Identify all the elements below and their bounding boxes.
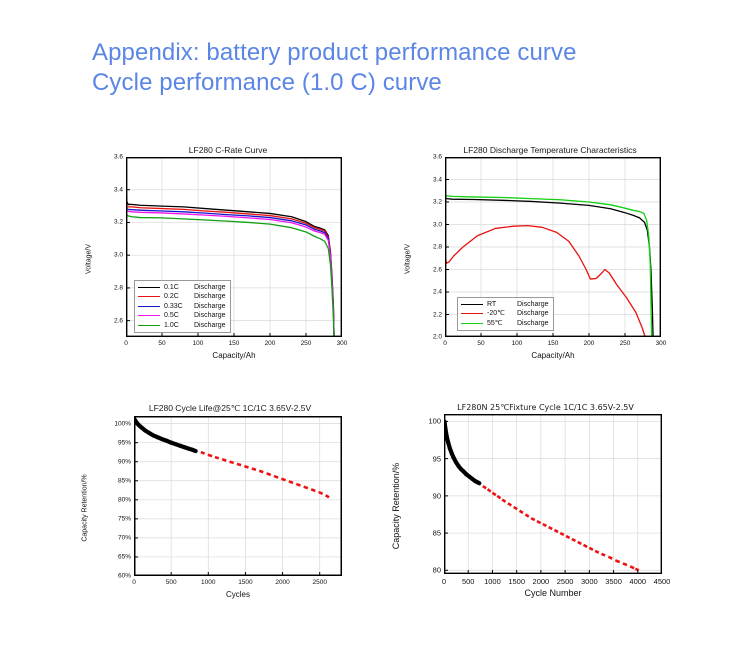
y-tick-label: 2.8 (433, 244, 445, 251)
page-title-line-2: Cycle performance (1.0 C) curve (92, 68, 577, 98)
legend-item: 0.1CDischarge (138, 283, 226, 293)
legend-color-swatch (138, 325, 160, 326)
y-axis-label: Voltage/V (86, 244, 93, 274)
y-tick-label: 2.4 (433, 289, 445, 296)
series-measured (193, 450, 196, 451)
legend-color-swatch (138, 287, 160, 288)
axes: 0501001502002503002.62.83.03.23.43.60.1C… (126, 157, 342, 337)
y-tick-label: 3.6 (114, 154, 126, 161)
series-measured (478, 482, 479, 483)
x-axis-label: Cycle Number (444, 588, 662, 598)
y-tick-label: 95 (433, 454, 444, 463)
chart-c-rate-curve: LF280 C-Rate Curve Voltage/V 05010015020… (108, 145, 348, 360)
x-tick-label: 250 (620, 337, 631, 347)
x-tick-label: 1500 (508, 574, 525, 586)
legend-item: -20℃Discharge (461, 309, 549, 319)
y-tick-label: 100% (114, 420, 134, 427)
x-tick-label: 3500 (605, 574, 622, 586)
legend-item: 1.0CDischarge (138, 321, 226, 331)
x-tick-label: 300 (656, 337, 667, 347)
x-tick-label: 200 (584, 337, 595, 347)
legend-label: 0.1C (164, 283, 190, 293)
chart-cycle-life-lf280: LF280 Cycle Life@25℃ 1C/1C 3.65V-2.5V Ca… (110, 403, 350, 599)
legend-label: 1.0C (164, 321, 190, 331)
legend-label: -20℃ (487, 309, 513, 319)
y-tick-label: 80% (118, 496, 134, 503)
legend-label: RT (487, 300, 513, 310)
y-tick-label: 3.4 (433, 176, 445, 183)
y-axis-label: Capacity Retention/% (82, 474, 89, 541)
x-tick-label: 200 (265, 337, 276, 347)
y-tick-label: 100 (428, 417, 444, 426)
x-tick-label: 100 (512, 337, 523, 347)
legend-sublabel: Discharge (194, 321, 226, 331)
y-axis-label: Capacity Retention/% (391, 463, 401, 550)
axes: 0500100015002000250030003500400045008085… (444, 414, 662, 574)
legend-color-swatch (461, 313, 483, 314)
x-axis-label: Capacity/Ah (126, 351, 342, 360)
y-tick-label: 75% (118, 515, 134, 522)
chart-legend: RTDischarge-20℃Discharge55℃Discharge (457, 297, 554, 332)
page-title-line-1: Appendix: battery product performance cu… (92, 38, 577, 68)
y-tick-label: 90% (118, 458, 134, 465)
legend-color-swatch (138, 306, 160, 307)
x-tick-label: 150 (229, 337, 240, 347)
y-tick-label: 2.6 (433, 266, 445, 273)
axes: 0500100015002000250060%65%70%75%80%85%90… (134, 416, 342, 576)
x-tick-label: 4500 (654, 574, 671, 586)
legend-color-swatch (138, 315, 160, 316)
y-tick-label: 3.0 (433, 221, 445, 228)
y-tick-label: 2.6 (114, 317, 126, 324)
legend-item: RTDischarge (461, 300, 549, 310)
legend-color-swatch (461, 304, 483, 305)
legend-item: 55℃Discharge (461, 319, 549, 329)
y-tick-label: 2.2 (433, 311, 445, 318)
y-tick-label: 3.4 (114, 186, 126, 193)
y-tick-label: 2.8 (114, 284, 126, 291)
chart-fixture-cycle-lf280n: LF280N 25℃Fixture Cycle 1C/1C 3.65V-2.5V… (418, 403, 673, 598)
page-title: Appendix: battery product performance cu… (92, 38, 577, 98)
legend-sublabel: Discharge (194, 292, 226, 302)
chart-discharge-temperature: LF280 Discharge Temperature Characterist… (427, 145, 673, 360)
chart-title: LF280N 25℃Fixture Cycle 1C/1C 3.65V-2.5V (418, 403, 673, 412)
plot-area: Voltage/V 0501001502002503002.02.22.42.6… (427, 157, 673, 360)
plot-area: Capacity Retention/% 0500100015002000250… (418, 414, 673, 598)
x-tick-label: 50 (477, 337, 484, 347)
legend-label: 0.33C (164, 302, 190, 312)
x-tick-label: 150 (548, 337, 559, 347)
y-tick-label: 3.0 (114, 252, 126, 259)
plot-area: Voltage/V 0501001502002503002.62.83.03.2… (108, 157, 348, 360)
x-tick-label: 1000 (201, 576, 215, 586)
y-tick-label: 65% (118, 553, 134, 560)
plot-svg (444, 414, 662, 574)
y-tick-label: 80 (433, 566, 444, 575)
legend-label: 0.2C (164, 292, 190, 302)
legend-sublabel: Discharge (194, 302, 226, 312)
y-axis-label: Voltage/V (405, 244, 412, 274)
y-tick-label: 85% (118, 477, 134, 484)
legend-item: 0.5CDischarge (138, 311, 226, 321)
x-tick-label: 2000 (275, 576, 289, 586)
legend-label: 0.5C (164, 311, 190, 321)
x-tick-label: 0 (124, 337, 128, 347)
x-tick-label: 2500 (312, 576, 326, 586)
legend-item: 0.33CDischarge (138, 302, 226, 312)
axes: 0501001502002503002.02.22.42.62.83.03.23… (445, 157, 661, 337)
legend-sublabel: Discharge (517, 300, 549, 310)
y-tick-label: 70% (118, 534, 134, 541)
x-tick-label: 1000 (484, 574, 501, 586)
x-axis-label: Cycles (134, 590, 342, 599)
legend-color-swatch (461, 323, 483, 324)
legend-color-swatch (138, 296, 160, 297)
y-tick-label: 85 (433, 529, 444, 538)
chart-title: LF280 Discharge Temperature Characterist… (427, 145, 673, 155)
legend-item: 0.2CDischarge (138, 292, 226, 302)
x-tick-label: 1500 (238, 576, 252, 586)
x-tick-label: 500 (166, 576, 177, 586)
plot-svg (134, 416, 342, 576)
x-tick-label: 100 (193, 337, 204, 347)
legend-sublabel: Discharge (517, 309, 549, 319)
y-tick-label: 3.2 (433, 199, 445, 206)
chart-title: LF280 Cycle Life@25℃ 1C/1C 3.65V-2.5V (110, 403, 350, 414)
x-tick-label: 50 (158, 337, 165, 347)
chart-title: LF280 C-Rate Curve (108, 145, 348, 155)
x-tick-label: 3000 (581, 574, 598, 586)
x-tick-label: 2000 (533, 574, 550, 586)
legend-sublabel: Discharge (517, 319, 549, 329)
x-tick-label: 250 (301, 337, 312, 347)
chart-legend: 0.1CDischarge0.2CDischarge0.33CDischarge… (134, 280, 231, 334)
legend-sublabel: Discharge (194, 311, 226, 321)
x-tick-label: 300 (337, 337, 348, 347)
x-tick-label: 2500 (557, 574, 574, 586)
x-tick-label: 4000 (629, 574, 646, 586)
y-tick-label: 2.0 (433, 334, 445, 341)
plot-area: Capacity Retention/% 0500100015002000250… (110, 416, 350, 599)
y-tick-label: 60% (118, 573, 134, 580)
y-tick-label: 3.6 (433, 154, 445, 161)
y-tick-label: 3.2 (114, 219, 126, 226)
legend-sublabel: Discharge (194, 283, 226, 293)
x-tick-label: 0 (442, 574, 446, 586)
x-tick-label: 500 (462, 574, 475, 586)
legend-label: 55℃ (487, 319, 513, 329)
y-tick-label: 95% (118, 439, 134, 446)
y-tick-label: 90 (433, 491, 444, 500)
x-axis-label: Capacity/Ah (445, 351, 661, 360)
